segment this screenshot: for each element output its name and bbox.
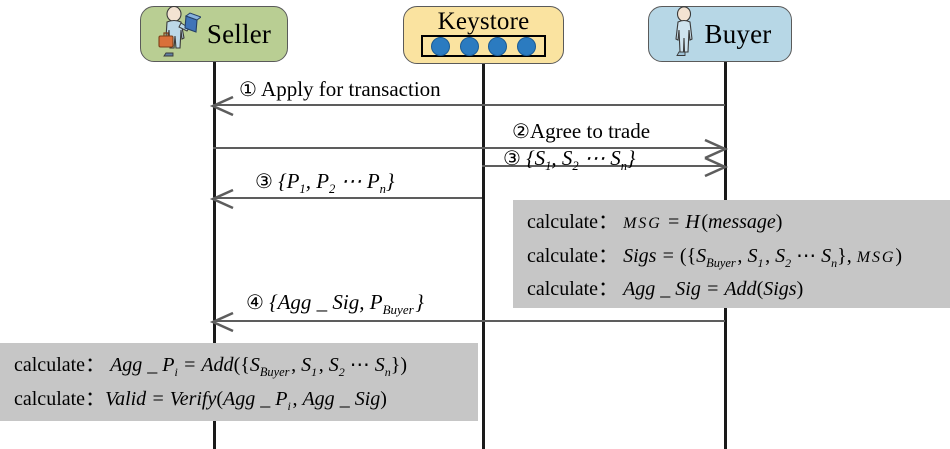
buyer-person-icon xyxy=(669,6,701,63)
note-seller-line-1: calculate： Agg _ Pi = Add({SBuyer , S1 ,… xyxy=(14,349,464,383)
actor-buyer-label: Buyer xyxy=(705,21,772,48)
message-text-4: {Agg _ Sig, PBuyer } xyxy=(269,290,424,314)
lifeline-keystore xyxy=(482,62,485,449)
arrowhead-right-icon xyxy=(703,156,727,178)
arrowhead-left-icon xyxy=(211,95,235,117)
seller-person-icon xyxy=(157,6,201,63)
key-dot xyxy=(460,37,479,56)
message-text-2: Agree to trade xyxy=(530,119,650,143)
message-number-2: ② xyxy=(512,122,530,142)
message-arrow-3-keystore-seller xyxy=(213,197,482,199)
actor-seller[interactable]: Seller xyxy=(140,6,288,62)
key-dot xyxy=(488,37,507,56)
key-dot xyxy=(431,37,450,56)
message-text-3a: {P1, P2 ⋯ Pn} xyxy=(278,169,394,193)
message-label-3-keystore-buyer: ③ {S1, S2 ⋯ Sn} xyxy=(503,148,635,173)
note-seller-line-2: calculate：Valid = Verify(Agg _ Pi , Agg … xyxy=(14,383,464,417)
actor-keystore-label: Keystore xyxy=(438,9,530,34)
note-seller-calculations: calculate： Agg _ Pi = Add({SBuyer , S1 ,… xyxy=(0,343,478,421)
message-label-1: ① Apply for transaction xyxy=(239,79,441,100)
message-number-1: ① xyxy=(239,80,257,100)
note-buyer-line-3: calculate： Agg _ Sig = Add(Sigs) xyxy=(527,273,936,307)
message-arrow-1 xyxy=(213,104,725,106)
arrowhead-left-icon xyxy=(211,188,235,210)
message-text-1: Apply for transaction xyxy=(261,77,441,101)
message-label-2: ②Agree to trade xyxy=(512,121,650,142)
message-label-4: ④ {Agg _ Sig, PBuyer } xyxy=(246,292,424,316)
note-buyer-line-1: calculate： MSG = H (message) xyxy=(527,206,936,240)
message-label-3-keystore-seller: ③ {P1, P2 ⋯ Pn} xyxy=(255,171,394,196)
message-number-3b: ③ xyxy=(503,149,521,169)
message-number-3a: ③ xyxy=(255,172,273,192)
message-arrow-4 xyxy=(213,320,725,322)
arrowhead-left-icon xyxy=(211,311,235,333)
key-dot xyxy=(517,37,536,56)
actor-buyer[interactable]: Buyer xyxy=(648,6,792,62)
keystore-keys-icon xyxy=(421,35,546,57)
note-buyer-line-2: calculate： Sigs = ({SBuyer , S1 , S2 ⋯ S… xyxy=(527,240,936,274)
message-arrow-2 xyxy=(213,147,725,149)
actor-keystore[interactable]: Keystore xyxy=(403,6,564,64)
sequence-diagram: Seller Keystore Buyer ① Apply for transa… xyxy=(0,0,950,449)
message-number-4: ④ xyxy=(246,293,264,313)
message-text-3b: {S1, S2 ⋯ Sn} xyxy=(526,146,635,170)
note-buyer-calculations: calculate： MSG = H (message) calculate： … xyxy=(513,200,950,308)
actor-seller-label: Seller xyxy=(207,21,271,48)
